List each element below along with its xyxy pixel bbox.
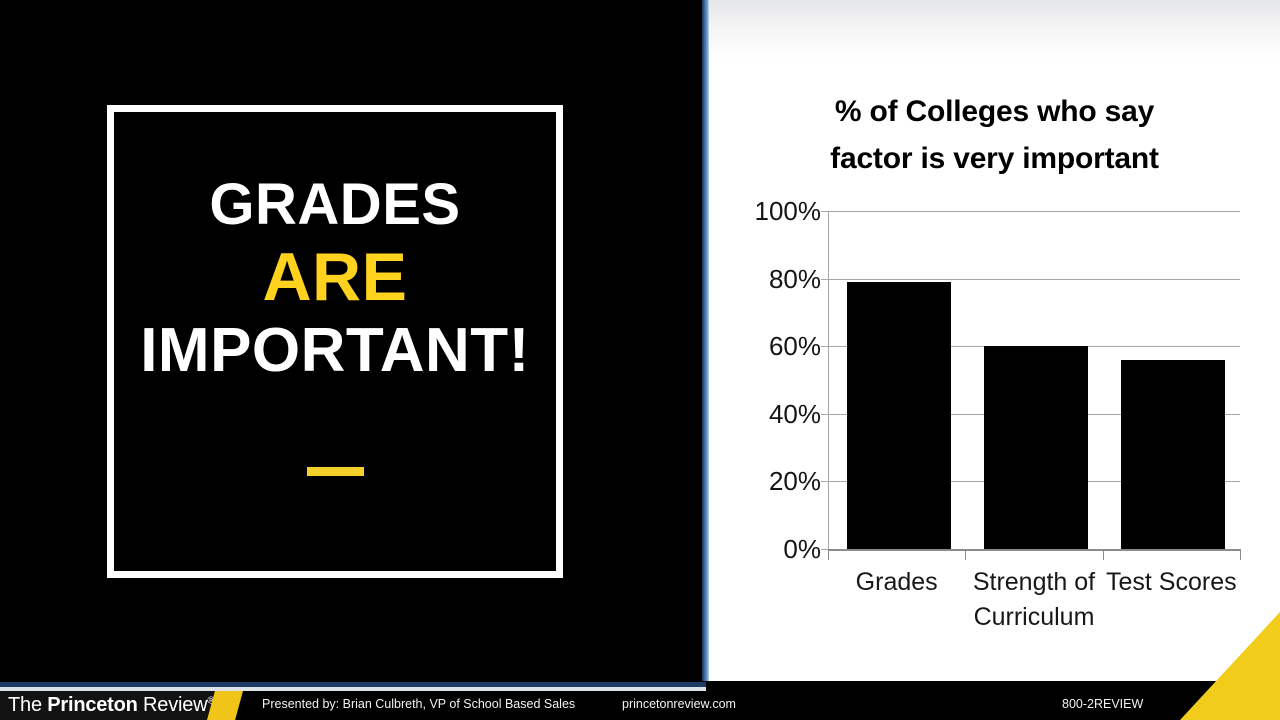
presenter-credit: Presented by: Brian Culbreth, VP of Scho… [262,697,575,711]
left-quote-panel: GRADES ARE IMPORTANT! [0,0,703,681]
logo-review: Review [138,694,208,716]
quote-text-block: GRADES ARE IMPORTANT! [114,174,556,383]
y-axis-tick [821,549,828,550]
princeton-review-logo: The Princeton Review® [0,691,218,720]
presentation-slide: GRADES ARE IMPORTANT! % of Colleges who … [0,0,1280,720]
y-axis-tick [821,211,828,212]
bar [1121,360,1225,549]
x-axis-tick [1103,550,1104,560]
y-axis-tick [821,346,828,347]
bar [984,346,1088,549]
x-axis-tick-label-line: Test Scores [1091,565,1252,600]
y-axis-tick [821,279,828,280]
quote-box: GRADES ARE IMPORTANT! [107,105,563,578]
quote-accent-rule [307,467,364,476]
x-axis-tick-label: Test Scores [1091,565,1252,600]
panel-divider [702,0,709,682]
y-axis-labels: 100%80%60%40%20%0% [709,211,821,549]
x-axis-tick [1240,550,1241,560]
phone-number: 800-2REVIEW [1062,697,1143,711]
gridline [828,211,1240,212]
chart-title: % of Colleges who say factor is very imp… [709,88,1280,183]
x-axis-tick [965,550,966,560]
chart-title-line-2: factor is very important [709,135,1280,182]
y-axis-tick-label: 60% [737,333,821,359]
y-axis-tick-label: 80% [737,266,821,292]
x-axis-line [828,549,1241,551]
logo-the: The [8,694,47,716]
quote-line-important: IMPORTANT! [114,318,556,384]
y-axis-tick [821,481,828,482]
chart-title-line-1: % of Colleges who say [709,88,1280,135]
gridline [828,279,1240,280]
website-url: princetonreview.com [622,697,736,711]
y-axis-tick-label: 20% [737,468,821,494]
x-axis-tick [828,550,829,560]
y-axis-line [828,211,829,550]
chart-panel: % of Colleges who say factor is very imp… [709,0,1280,682]
y-axis-tick [821,414,828,415]
plot-area [828,211,1240,549]
quote-line-are: ARE [114,241,556,313]
bar [847,282,951,549]
x-axis-tick-label-line: Curriculum [953,600,1114,635]
y-axis-tick-label: 40% [737,401,821,427]
logo-text: The Princeton Review® [8,694,215,717]
logo-princeton: Princeton [47,694,137,716]
y-axis-tick-label: 0% [737,536,821,562]
quote-line-grades: GRADES [114,174,556,235]
y-axis-tick-label: 100% [737,198,821,224]
